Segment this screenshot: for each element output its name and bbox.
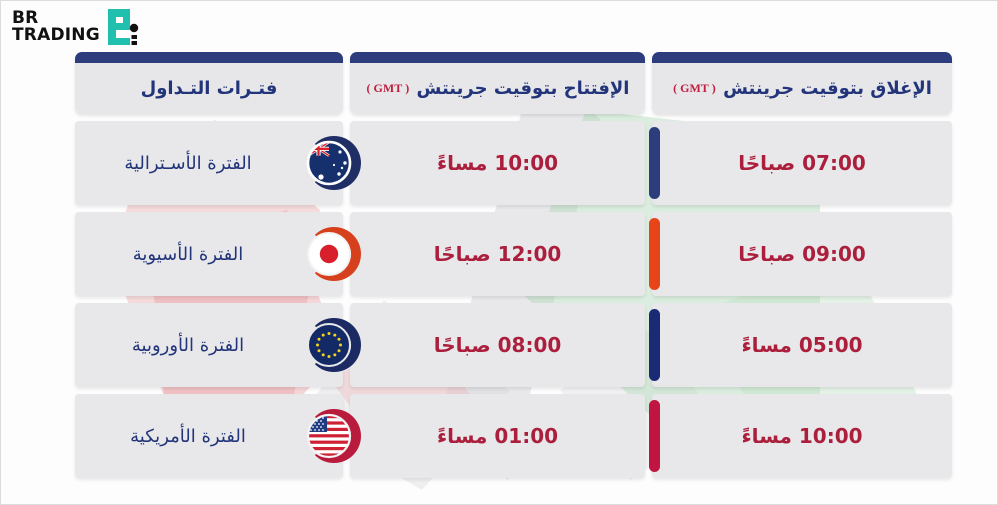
- column-close: الإغلاق بتوقيت جرينتش ( GMT ): [652, 52, 952, 114]
- cell-open: 10:00 مساءً: [350, 121, 645, 205]
- table-row[interactable]: 09:00 صباحًا 12:00 صباحًا الفترة الأسيوي…: [48, 212, 952, 296]
- cell-session: الفترة الأسيوية: [75, 212, 343, 296]
- open-time-value: 12:00 صباحًا: [434, 242, 562, 266]
- header-close-label: الإغلاق بتوقيت جرينتش ( GMT ): [666, 78, 938, 99]
- session-name: الفترة الأسـترالية: [124, 153, 251, 174]
- flag-europe-icon: [303, 314, 365, 376]
- header-session-label: فتـرات التـداول: [135, 78, 284, 99]
- session-name: الفترة الأوروبية: [132, 335, 244, 356]
- brand-line-2: TRADING: [12, 27, 100, 44]
- column-session: فتـرات التـداول: [75, 52, 343, 114]
- header-open-gmt: ( GMT ): [366, 81, 411, 95]
- cell-close: 07:00 صباحًا: [652, 121, 952, 205]
- cell-open: 12:00 صباحًا: [350, 212, 645, 296]
- cell-session: الفترة الأوروبية: [75, 303, 343, 387]
- row-accent-bar: [649, 218, 660, 290]
- cell-open: 08:00 صباحًا: [350, 303, 645, 387]
- open-time-cell: 10:00 مساءً: [350, 121, 645, 205]
- open-time-value: 01:00 مساءً: [437, 424, 558, 448]
- cell-session: الفترة الأسـترالية: [75, 121, 343, 205]
- flag-usa-icon: [303, 405, 365, 467]
- flag-japan-icon: [303, 223, 365, 285]
- table-header-row: الإغلاق بتوقيت جرينتش ( GMT ) الإفتتاح ب…: [48, 52, 952, 114]
- trading-sessions-table: الإغلاق بتوقيت جرينتش ( GMT ) الإفتتاح ب…: [48, 52, 952, 485]
- brand-logo-text: BR TRADING: [12, 10, 100, 43]
- flag-australia-icon: [303, 132, 365, 194]
- column-open: الإفتتاح بتوقيت جرينتش ( GMT ): [350, 52, 645, 114]
- close-time-value: 07:00 صباحًا: [738, 151, 866, 175]
- open-time-cell: 01:00 مساءً: [350, 394, 645, 478]
- header-open-title: الإفتتاح بتوقيت جرينتش: [417, 78, 630, 99]
- close-time-cell: 09:00 صباحًا: [652, 212, 952, 296]
- br-logo-mark-icon: [107, 8, 141, 46]
- cell-open: 01:00 مساءً: [350, 394, 645, 478]
- row-accent-bar: [649, 127, 660, 199]
- cell-close: 09:00 صباحًا: [652, 212, 952, 296]
- close-time-value: 09:00 صباحًا: [738, 242, 866, 266]
- session-cell: الفترة الأسيوية: [75, 212, 343, 296]
- brand-logo: BR TRADING: [12, 8, 141, 46]
- cell-close: 05:00 مساءً: [652, 303, 952, 387]
- header-cell-close: الإغلاق بتوقيت جرينتش ( GMT ): [652, 52, 952, 114]
- cell-close: 10:00 مساءً: [652, 394, 952, 478]
- close-time-value: 10:00 مساءً: [741, 424, 862, 448]
- close-time-cell: 07:00 صباحًا: [652, 121, 952, 205]
- session-cell: الفترة الأمريكية: [75, 394, 343, 478]
- open-time-value: 10:00 مساءً: [437, 151, 558, 175]
- table-row[interactable]: 07:00 صباحًا 10:00 مساءً الفترة الأسـترا…: [48, 121, 952, 205]
- open-time-value: 08:00 صباحًا: [434, 333, 562, 357]
- row-accent-bar: [649, 309, 660, 381]
- open-time-cell: 12:00 صباحًا: [350, 212, 645, 296]
- table-row[interactable]: 05:00 مساءً 08:00 صباحًا الفترة الأوروبي…: [48, 303, 952, 387]
- session-cell: الفترة الأسـترالية: [75, 121, 343, 205]
- header-open-label: الإفتتاح بتوقيت جرينتش ( GMT ): [360, 78, 636, 99]
- header-cell-session: فتـرات التـداول: [75, 52, 343, 114]
- close-time-cell: 05:00 مساءً: [652, 303, 952, 387]
- table-row[interactable]: 10:00 مساءً 01:00 مساءً الفترة الأمريكية: [48, 394, 952, 478]
- close-time-value: 05:00 مساءً: [741, 333, 862, 357]
- open-time-cell: 08:00 صباحًا: [350, 303, 645, 387]
- page-root: BR TRADING الإغلاق بتوقيت جرينتش ( GMT )…: [0, 0, 998, 505]
- session-name: الفترة الأمريكية: [130, 426, 246, 447]
- row-accent-bar: [649, 400, 660, 472]
- header-cell-open: الإفتتاح بتوقيت جرينتش ( GMT ): [350, 52, 645, 114]
- header-close-title: الإغلاق بتوقيت جرينتش: [723, 78, 932, 99]
- cell-session: الفترة الأمريكية: [75, 394, 343, 478]
- header-close-gmt: ( GMT ): [672, 81, 717, 95]
- session-cell: الفترة الأوروبية: [75, 303, 343, 387]
- close-time-cell: 10:00 مساءً: [652, 394, 952, 478]
- session-name: الفترة الأسيوية: [133, 244, 244, 265]
